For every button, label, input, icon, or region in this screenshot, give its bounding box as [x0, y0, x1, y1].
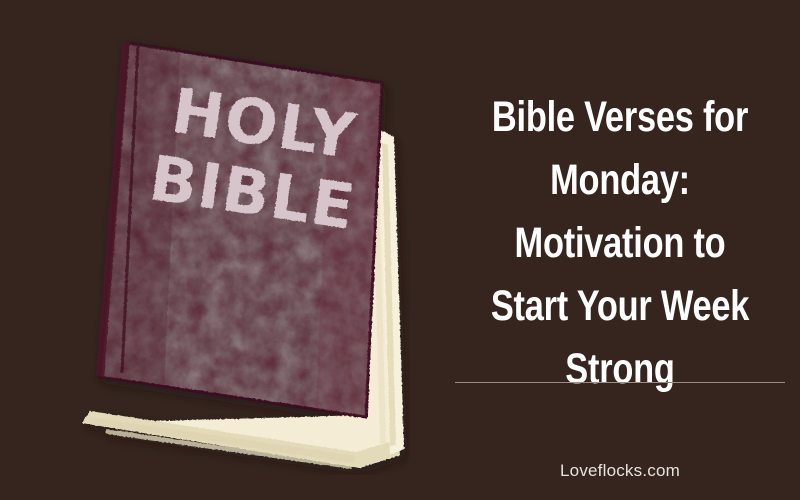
headline-line-2: Monday:: [476, 149, 764, 212]
title-divider: [455, 382, 785, 383]
headline-line-4: Start Your Week: [476, 275, 764, 338]
book-cover-lettering: HOLY BIBLE: [145, 72, 371, 244]
book-body: HOLY BIBLE: [82, 41, 404, 469]
headline-line-5: Strong: [476, 338, 764, 401]
holy-bible-book-illustration: HOLY BIBLE: [60, 25, 410, 475]
book-vector: HOLY BIBLE: [60, 25, 410, 475]
poster-canvas: HOLY BIBLE Bible Verses for Monday: Moti…: [0, 0, 800, 500]
site-credit: Loveflocks.com: [440, 461, 800, 481]
headline: Bible Verses for Monday: Motivation to S…: [440, 86, 800, 401]
headline-line-1: Bible Verses for: [476, 86, 764, 149]
headline-line-3: Motivation to: [476, 212, 764, 275]
